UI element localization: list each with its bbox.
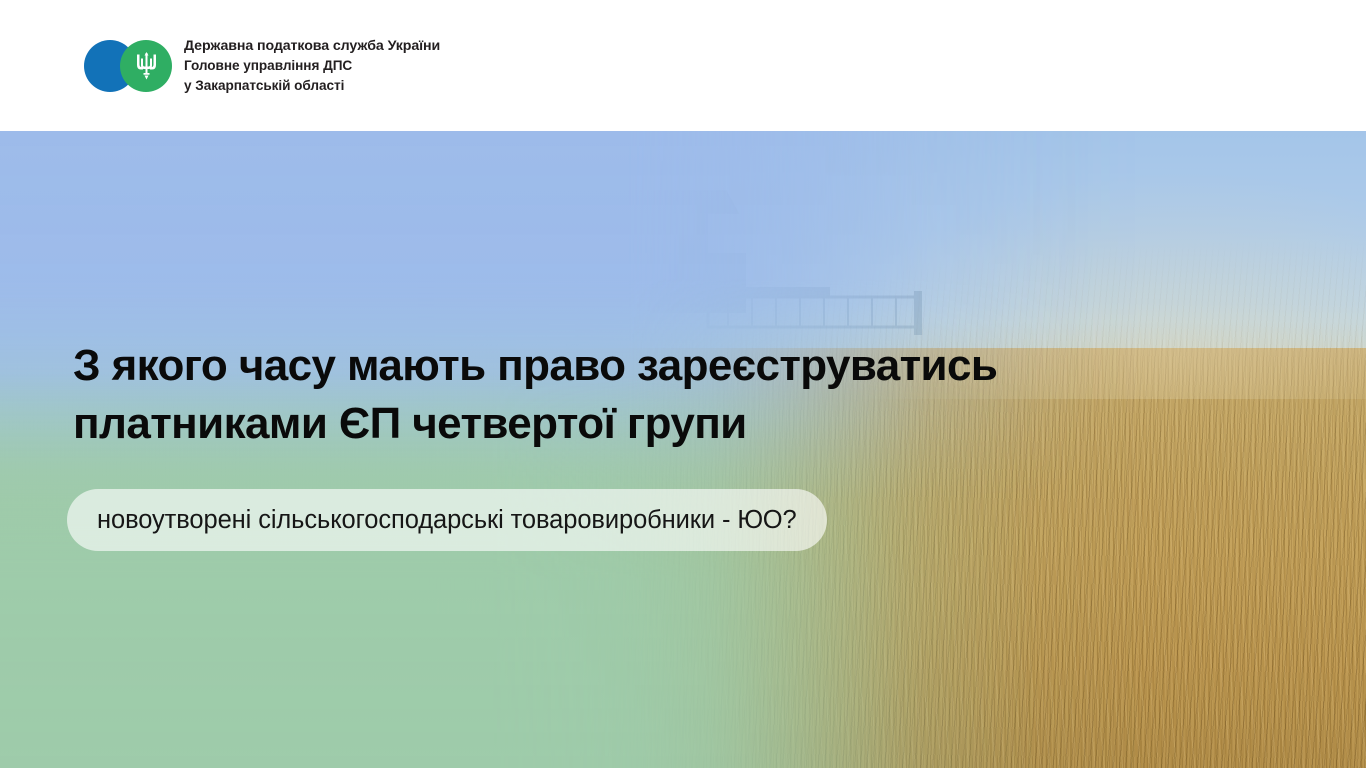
- org-title-line1: Державна податкова служба України: [184, 36, 440, 57]
- banner-page: Державна податкова служба України Головн…: [0, 0, 1366, 768]
- page-title: З якого часу мають право зареєструватись…: [73, 337, 1303, 453]
- organization-logo[interactable]: [84, 40, 172, 92]
- hero-content: З якого часу мають право зареєструватись…: [0, 131, 1366, 768]
- subtitle-pill: новоутворені сільськогосподарські товаро…: [67, 489, 827, 551]
- organization-name: Державна податкова служба України Головн…: [184, 36, 440, 96]
- subtitle-text: новоутворені сільськогосподарські товаро…: [97, 506, 797, 535]
- org-title-line3: у Закарпатській області: [184, 76, 440, 96]
- headline-line-1: З якого часу мають право зареєструватись: [73, 337, 1303, 395]
- org-title-line2: Головне управління ДПС: [184, 56, 440, 76]
- site-header: Державна податкова служба України Головн…: [0, 0, 1366, 131]
- ukraine-trident-icon: [120, 40, 172, 92]
- headline-line-2: платниками ЄП четвертої групи: [73, 395, 1303, 453]
